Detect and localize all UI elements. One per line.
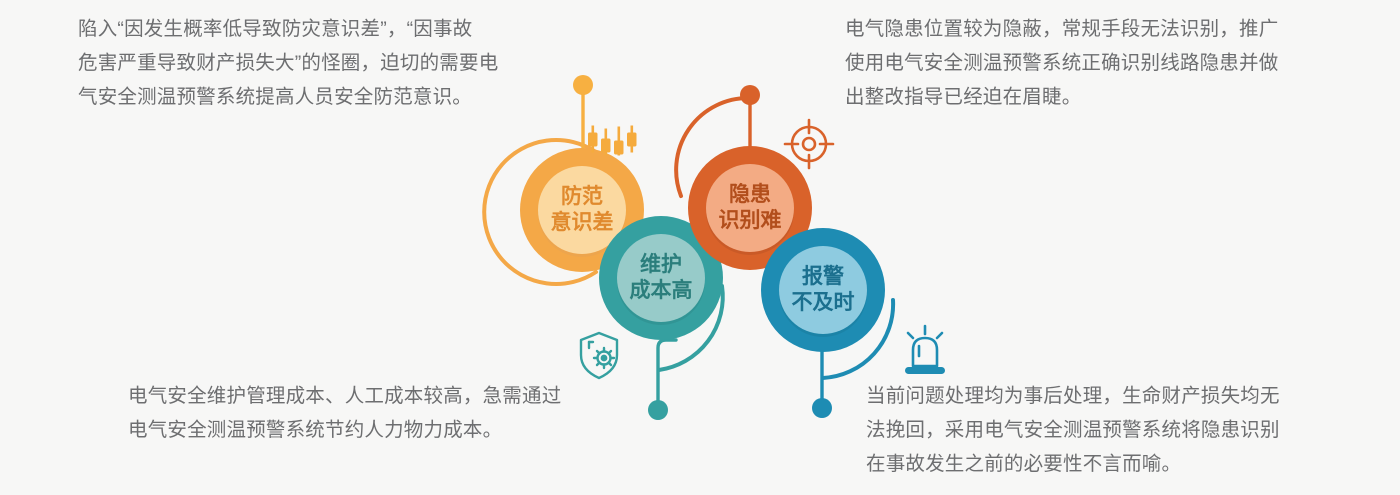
description-maintenance-cost: 电气安全维护管理成本、人工成本较高，急需通过 电气安全测温预警系统节约人力物力成… bbox=[128, 379, 598, 447]
dot-maintenance-cost bbox=[648, 400, 668, 420]
connector-alarm-delay bbox=[822, 344, 841, 401]
infographic-canvas: 防范 意识差 隐患 识别难 维护 成本高 报警 不及时 陷入“因发生概率低导致防… bbox=[0, 0, 1400, 495]
dot-prevention-awareness bbox=[573, 75, 593, 95]
node-alarm-delay[interactable] bbox=[761, 228, 885, 352]
description-alarm-delay: 当前问题处理均为事后处理，生命财产损失均无 法挽回，采用电气安全测温预警系统将隐… bbox=[866, 379, 1316, 481]
fill-hazard-identification bbox=[706, 164, 794, 252]
crosshair-target-icon bbox=[785, 120, 833, 168]
fill-alarm-delay bbox=[779, 246, 867, 334]
dot-alarm-delay bbox=[812, 398, 832, 418]
alarm-siren-icon bbox=[905, 326, 945, 374]
description-hazard-identification: 电气隐患位置较为隐蔽，常规手段无法识别，推广 使用电气安全测温预警系统正确识别线… bbox=[845, 12, 1315, 114]
dot-hazard-identification bbox=[740, 85, 760, 105]
description-prevention-awareness: 陷入“因发生概率低导致防灾意识差”，“因事故 危害严重导致财产损失大”的怪圈，迫… bbox=[78, 12, 548, 114]
shield-gear-icon bbox=[581, 333, 617, 378]
fill-maintenance-cost bbox=[617, 234, 705, 322]
